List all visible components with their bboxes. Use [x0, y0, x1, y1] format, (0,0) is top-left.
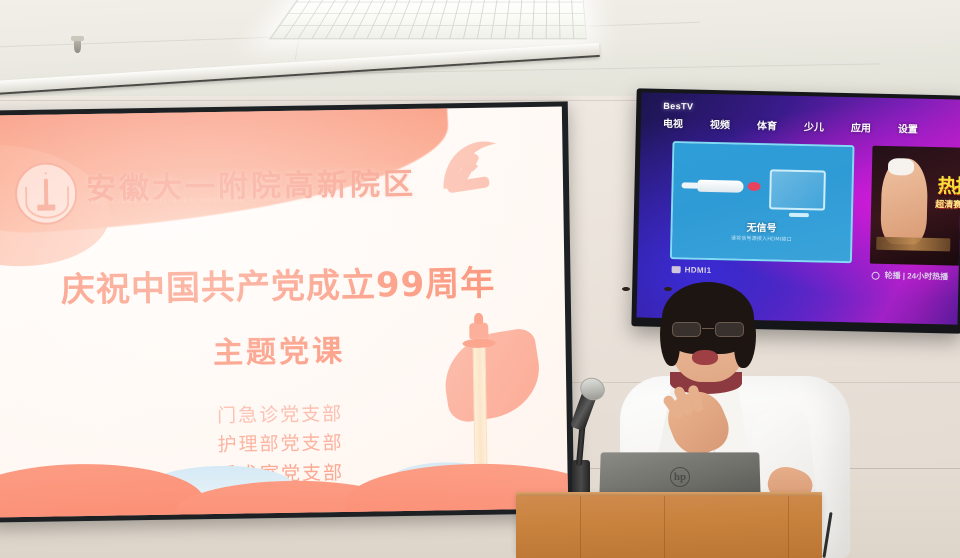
broadcast-icon: [871, 271, 879, 279]
seal-ring-text: ★: [17, 170, 75, 176]
promo-subline: 超清赛事: [935, 197, 960, 211]
presenter-eye: [622, 287, 630, 291]
presentation-slide: ★ 安徽大一附院高新院区 THE FIRST AFFILIATED HOSPIT…: [0, 107, 568, 518]
hammer-and-sickle-icon: [424, 123, 517, 216]
promo-mask: [888, 158, 914, 176]
seal-laurel: [25, 186, 69, 219]
promo-channel-label: 轮播 | 24小时热播: [871, 270, 948, 283]
tv-nav-bar[interactable]: 电视 视频 体育 少儿 应用 设置: [663, 115, 953, 137]
promo-headline: 热播: [937, 171, 960, 199]
tv-nav-item-settings[interactable]: 设置: [898, 120, 918, 135]
conference-room-photo: ★ 安徽大一附院高新院区 THE FIRST AFFILIATED HOSPIT…: [0, 0, 960, 558]
slide-headline: 庆祝中国共产党成立99周年: [0, 255, 565, 313]
hdmi-source-label: HDMI1: [672, 265, 712, 275]
presenter-mouth: [692, 350, 718, 365]
tv-nav-item-kids[interactable]: 少儿: [804, 118, 824, 133]
hdmi-input-card[interactable]: 无信号 请将信号源接入HDMI接口: [670, 141, 855, 263]
plug-indicator-icon: [747, 182, 760, 191]
monitor-icon: [769, 169, 826, 210]
presenter-eye: [664, 287, 672, 291]
ceiling-light-panel: [268, 0, 587, 40]
hp-logo: hp: [670, 467, 690, 487]
glasses-icon: [672, 322, 744, 337]
bestv-logo: BesTV: [663, 101, 693, 112]
input-source-icon: [672, 266, 681, 273]
sprinkler-head: [74, 40, 81, 53]
promo-banner-strip: [876, 237, 950, 252]
lectern: [516, 496, 822, 558]
promo-thumbnail-card[interactable]: 热播 超清赛事: [870, 146, 960, 266]
hdmi-plug-icon: [697, 180, 743, 193]
tv-nav-item-sports[interactable]: 体育: [757, 117, 777, 132]
projector-screen: ★ 安徽大一附院高新院区 THE FIRST AFFILIATED HOSPIT…: [0, 101, 574, 522]
tv-nav-item-apps[interactable]: 应用: [851, 119, 871, 134]
presenter-hair-side: [660, 308, 680, 366]
promo-channel-text: 轮播 | 24小时热播: [884, 270, 948, 282]
tv-nav-item-tv[interactable]: 电视: [663, 115, 683, 130]
hdmi-source-text: HDMI1: [685, 265, 712, 275]
presenter-hair-side: [734, 308, 756, 368]
tv-nav-item-video[interactable]: 视频: [710, 116, 730, 131]
